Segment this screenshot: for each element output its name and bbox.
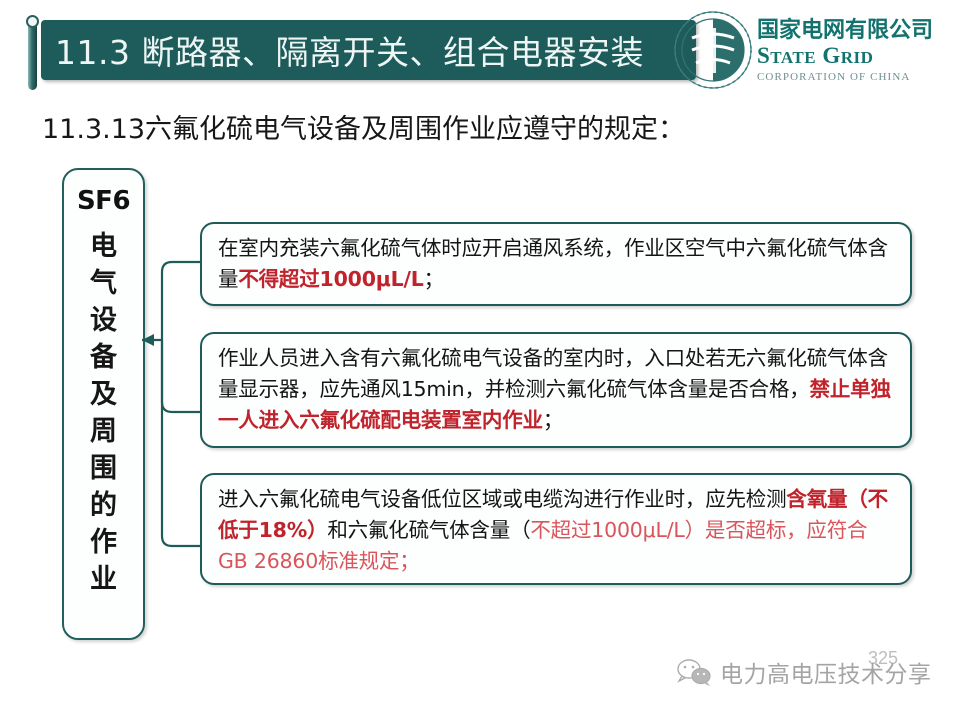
segment-normal-end: ； xyxy=(543,408,563,432)
slide-header: 11.3 断路器、隔离开关、组合电器安装 国家电网有限公司 STATE GRID… xyxy=(0,0,960,100)
brand-en-tate: TATE xyxy=(770,48,816,67)
content-box-1: 在室内充装六氟化硫气体时应开启通风系统，作业区空气中六氟化硫气体含量不得超过10… xyxy=(200,222,912,306)
page-title: 11.3 断路器、隔离开关、组合电器安装 xyxy=(55,26,644,74)
content-box-3: 进入六氟化硫电气设备低位区域或电缆沟进行作业时，应先检测含氧量（不低于18%）和… xyxy=(200,473,912,585)
bracket-connector xyxy=(140,200,205,605)
sf6-vertical-char-4: 及 xyxy=(90,376,117,413)
sf6-vertical-char-5: 周 xyxy=(90,413,117,450)
header-pin-head-icon xyxy=(26,15,39,28)
segment-normal-end: ； xyxy=(424,267,444,291)
brand-name-en: STATE GRID xyxy=(757,43,957,70)
content-text-2: 作业人员进入含有六氟化硫电气设备的室内时，入口处若无六氟化硫气体含量显示器，应先… xyxy=(218,343,896,436)
content-box-2: 作业人员进入含有六氟化硫电气设备的室内时，入口处若无六氟化硫气体含量显示器，应先… xyxy=(200,332,912,448)
sf6-category-node: SF6 电气设备及周围的作业 xyxy=(62,168,145,640)
sf6-vertical-char-0: 电 xyxy=(90,228,117,265)
segment-normal: 作业人员进入含有六氟化硫电气设备的室内时，入口处若无六氟化硫气体含量显示器，应先… xyxy=(218,346,888,401)
brand-en-rid: RID xyxy=(841,48,874,67)
header-pin-decoration xyxy=(28,18,37,90)
state-grid-brand: 国家电网有限公司 STATE GRID CORPORATION OF CHINA xyxy=(757,18,957,84)
state-grid-emblem-icon xyxy=(672,8,754,92)
watermark-text: 电力高电压技术分享 xyxy=(720,655,932,689)
brand-subtitle: CORPORATION OF CHINA xyxy=(757,70,957,84)
sf6-vertical-char-1: 气 xyxy=(90,265,117,302)
brand-name-cn: 国家电网有限公司 xyxy=(757,18,957,43)
sf6-vertical-char-8: 作 xyxy=(90,524,117,561)
wechat-icon xyxy=(676,657,712,687)
page-number: 325 xyxy=(868,648,898,669)
sf6-vertical-char-7: 的 xyxy=(90,487,117,524)
slide-title-bar: 11.3 断路器、隔离开关、组合电器安装 xyxy=(41,20,696,80)
sf6-vertical-label: 电气设备及周围的作业 xyxy=(90,228,117,598)
section-subtitle: 11.3.13六氟化硫电气设备及周围作业应遵守的规定： xyxy=(42,107,685,146)
brand-en-s: S xyxy=(757,43,770,68)
brand-en-g: G xyxy=(822,43,840,68)
sf6-vertical-char-2: 设 xyxy=(90,302,117,339)
segment-normal-mid: 和六氟化硫气体含量（ xyxy=(327,518,530,542)
content-text-3: 进入六氟化硫电气设备低位区域或电缆沟进行作业时，应先检测含氧量（不低于18%）和… xyxy=(218,484,896,577)
sf6-vertical-char-3: 备 xyxy=(90,339,117,376)
content-text-1: 在室内充装六氟化硫气体时应开启通风系统，作业区空气中六氟化硫气体含量不得超过10… xyxy=(218,233,896,295)
segment-highlight: 不得超过1000μL/L xyxy=(238,267,423,291)
segment-normal: 进入六氟化硫电气设备低位区域或电缆沟进行作业时，应先检测 xyxy=(218,487,786,511)
sf6-vertical-char-9: 业 xyxy=(90,561,117,598)
sf6-vertical-char-6: 围 xyxy=(90,450,117,487)
sf6-label: SF6 xyxy=(77,186,130,216)
